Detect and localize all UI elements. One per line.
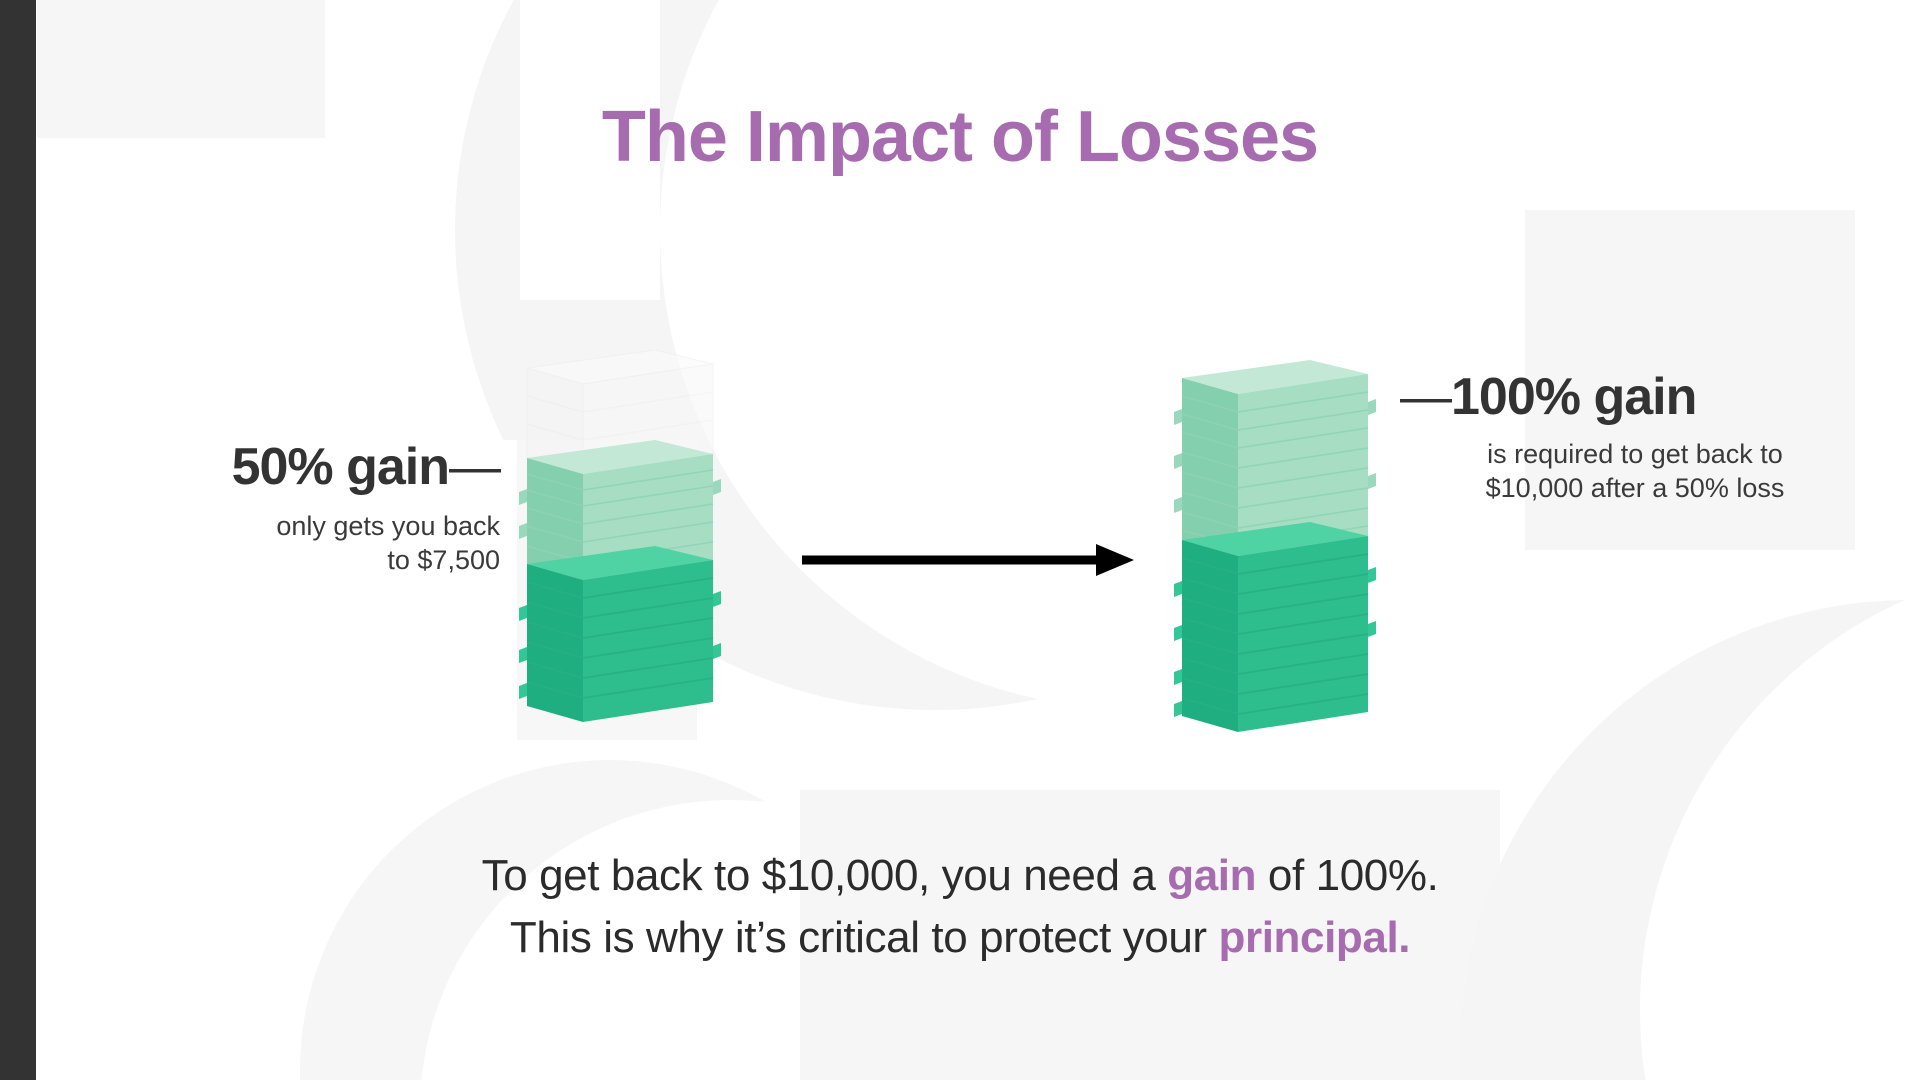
summary-caption: To get back to $10,000, you need a gain …	[0, 845, 1920, 970]
right-annotation: —100% gain is required to get back to $1…	[1400, 370, 1870, 506]
solid-green-bill-group	[519, 546, 721, 722]
right-arrow-svg	[800, 540, 1140, 580]
left-annotation: 50% gain— only gets you back to $7,500	[80, 440, 500, 578]
left-annotation-headline: 50% gain—	[80, 440, 500, 495]
right-annotation-headline: —100% gain	[1400, 370, 1870, 425]
money-stack-full	[1160, 360, 1390, 755]
right-annotation-sub: is required to get back to $10,000 after…	[1400, 437, 1870, 506]
right-sub-line1: is required to get back to	[1400, 437, 1870, 472]
caption-l1-part1: To get back to $10,000, you need a	[482, 851, 1168, 900]
solid-green-bill-group	[1174, 522, 1376, 732]
right-headline-text: 100% gain	[1451, 368, 1696, 426]
infographic-canvas: The Impact of Losses 50% gain— only gets…	[0, 0, 1920, 1080]
left-annotation-sub: only gets you back to $7,500	[80, 509, 500, 578]
page-title: The Impact of Losses	[0, 96, 1920, 178]
money-stack-partial	[505, 350, 735, 745]
caption-line-2: This is why it’s critical to protect you…	[0, 907, 1920, 969]
light-green-bill-group	[1174, 360, 1376, 556]
right-sub-line2: $10,000 after a 50% loss	[1400, 471, 1870, 506]
left-dash: —	[449, 438, 500, 496]
right-arrow-icon	[800, 540, 1140, 580]
left-headline-text: 50% gain	[232, 438, 449, 496]
money-stack-partial-svg	[505, 350, 735, 740]
caption-l2-part1: This is why it’s critical to protect you…	[510, 913, 1219, 962]
caption-line-1: To get back to $10,000, you need a gain …	[0, 845, 1920, 907]
money-stack-full-svg	[1160, 360, 1390, 750]
caption-l1-part2: of 100%.	[1256, 851, 1438, 900]
left-sub-line2: to $7,500	[80, 543, 500, 578]
caption-l2-highlight: principal.	[1219, 913, 1411, 962]
right-dash: —	[1400, 368, 1451, 426]
caption-l1-highlight: gain	[1167, 851, 1256, 900]
left-sub-line1: only gets you back	[80, 509, 500, 544]
